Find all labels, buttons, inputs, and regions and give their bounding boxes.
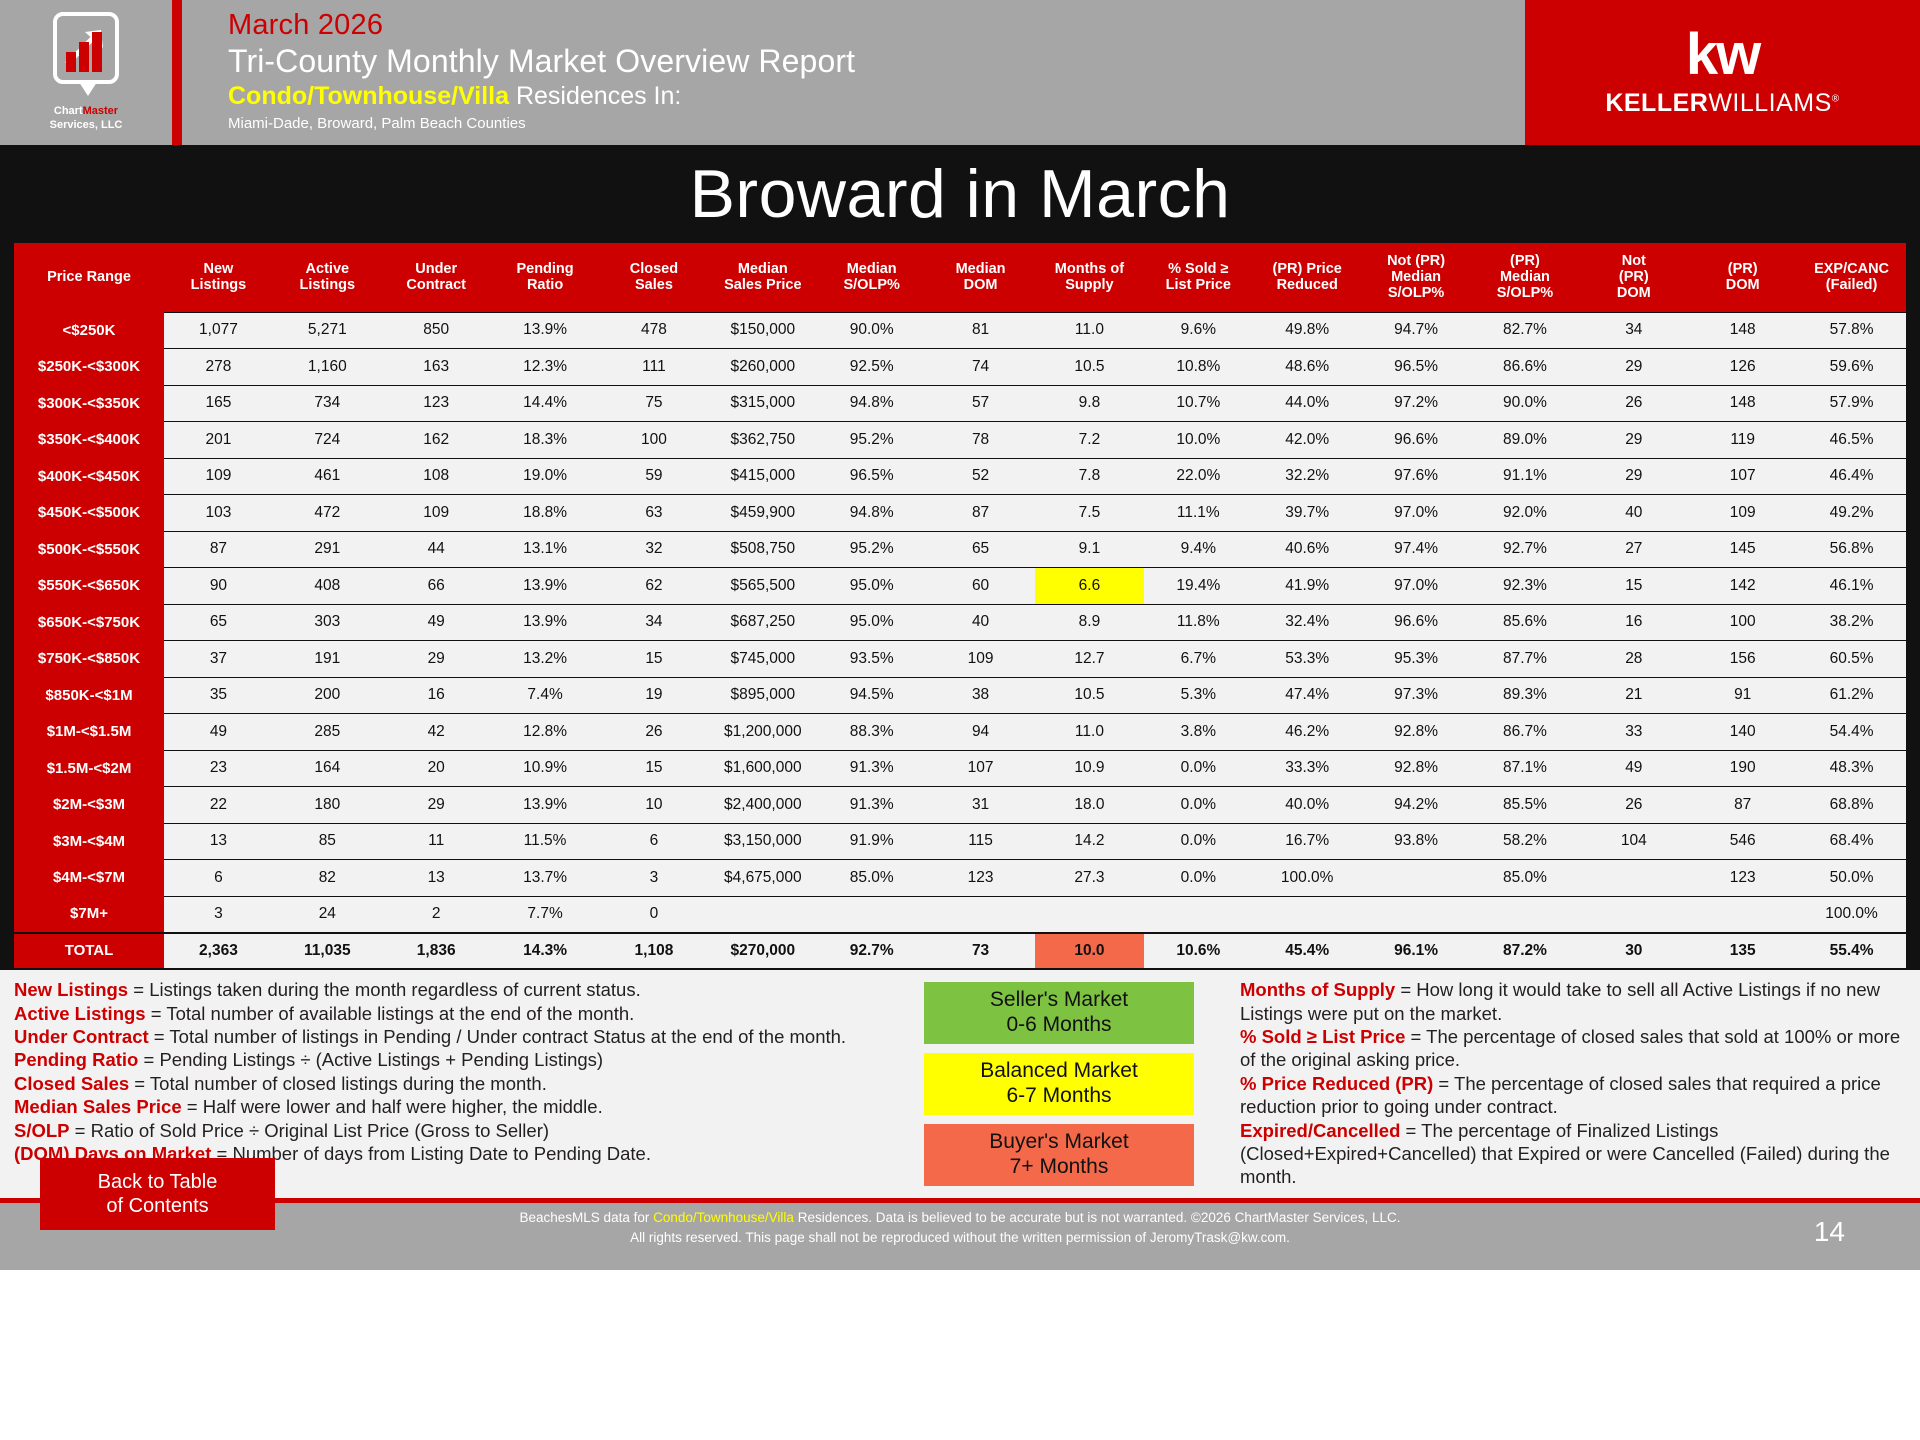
counties-label: Miami-Dade, Broward, Palm Beach Counties xyxy=(228,114,1525,134)
market-type-range: 7+ Months xyxy=(1010,1155,1109,1180)
cell-pct-sold-list: 6.7% xyxy=(1144,641,1253,678)
cell-not-pr-median-solp: 94.2% xyxy=(1362,787,1471,824)
cell-months-supply: 6.6 xyxy=(1035,568,1144,605)
cell-active-listings: 180 xyxy=(273,787,382,824)
legend-term: Expired/Cancelled xyxy=(1240,1120,1400,1141)
table-row: <$250K1,0775,27185013.9%478$150,00090.0%… xyxy=(14,312,1906,349)
cell-new-listings: 35 xyxy=(164,677,273,714)
cell-under-contract: 20 xyxy=(382,750,491,787)
cell-under-contract: 42 xyxy=(382,714,491,751)
cell-exp-canc: 49.2% xyxy=(1797,495,1906,532)
cell-price-range: $450K-<$500K xyxy=(14,495,164,532)
cell-pending-ratio: 18.8% xyxy=(491,495,600,532)
cell-median-solp: 94.8% xyxy=(817,385,926,422)
cell-under-contract: 2 xyxy=(382,896,491,933)
cell-median-solp: 92.7% xyxy=(817,933,926,970)
cell-months-supply: 9.1 xyxy=(1035,531,1144,568)
cell-median-sales-price: $1,200,000 xyxy=(708,714,817,751)
cell-active-listings: 11,035 xyxy=(273,933,382,970)
legend-item-left-2: Under Contract = Total number of listing… xyxy=(14,1025,884,1048)
cell-median-solp: 95.2% xyxy=(817,531,926,568)
cell-under-contract: 16 xyxy=(382,677,491,714)
cell-active-listings: 24 xyxy=(273,896,382,933)
cell-pending-ratio: 12.8% xyxy=(491,714,600,751)
cell-new-listings: 65 xyxy=(164,604,273,641)
cell-median-dom: 123 xyxy=(926,860,1035,897)
cell-pr-median-solp: 87.7% xyxy=(1471,641,1580,678)
cell-pending-ratio: 10.9% xyxy=(491,750,600,787)
table-row: $350K-<$400K20172416218.3%100$362,75095.… xyxy=(14,422,1906,459)
cell-pr-median-solp: 89.3% xyxy=(1471,677,1580,714)
cell-not-pr-dom xyxy=(1579,896,1688,933)
cell-not-pr-dom: 104 xyxy=(1579,823,1688,860)
column-header-not-pr-median-s-olp: Not (PR)MedianS/OLP% xyxy=(1362,243,1471,312)
table-row: $300K-<$350K16573412314.4%75$315,00094.8… xyxy=(14,385,1906,422)
legend-definitions-right: Months of Supply = How long it would tak… xyxy=(1234,978,1906,1198)
cell-pending-ratio: 13.9% xyxy=(491,604,600,641)
cell-price-range: <$250K xyxy=(14,312,164,349)
cell-closed-sales: 10 xyxy=(600,787,709,824)
column-header-median-s-olp: MedianS/OLP% xyxy=(817,243,926,312)
cell-median-sales-price: $362,750 xyxy=(708,422,817,459)
cell-median-dom: 115 xyxy=(926,823,1035,860)
cell-pr-median-solp: 90.0% xyxy=(1471,385,1580,422)
cell-price-range: $500K-<$550K xyxy=(14,531,164,568)
cell-months-supply: 8.9 xyxy=(1035,604,1144,641)
cell-active-listings: 5,271 xyxy=(273,312,382,349)
cell-median-solp: 94.8% xyxy=(817,495,926,532)
cell-pct-sold-list: 10.0% xyxy=(1144,422,1253,459)
cell-median-dom xyxy=(926,896,1035,933)
cell-pct-sold-list: 19.4% xyxy=(1144,568,1253,605)
cell-median-sales-price: $745,000 xyxy=(708,641,817,678)
legend-term: Active Listings xyxy=(14,1003,146,1024)
column-header-pending-ratio: PendingRatio xyxy=(491,243,600,312)
cell-pr-median-solp: 87.1% xyxy=(1471,750,1580,787)
cell-price-range: $7M+ xyxy=(14,896,164,933)
cell-not-pr-median-solp: 92.8% xyxy=(1362,714,1471,751)
cell-under-contract: 11 xyxy=(382,823,491,860)
back-button-line1: Back to Table xyxy=(98,1170,218,1194)
cell-months-supply: 18.0 xyxy=(1035,787,1144,824)
cell-median-solp xyxy=(817,896,926,933)
cell-pr-dom: 126 xyxy=(1688,349,1797,386)
cell-months-supply: 10.9 xyxy=(1035,750,1144,787)
cell-closed-sales: 75 xyxy=(600,385,709,422)
cell-price-range: $300K-<$350K xyxy=(14,385,164,422)
cell-pr-price-reduced: 42.0% xyxy=(1253,422,1362,459)
market-table-container: Price RangeNewListingsActiveListingsUnde… xyxy=(0,243,1920,970)
cell-pending-ratio: 19.0% xyxy=(491,458,600,495)
legend-term: % Sold ≥ List Price xyxy=(1240,1026,1405,1047)
table-header-row: Price RangeNewListingsActiveListingsUnde… xyxy=(14,243,1906,312)
legend-term: % Price Reduced (PR) xyxy=(1240,1073,1433,1094)
bar-chart-icon xyxy=(66,32,102,72)
cell-price-range: $650K-<$750K xyxy=(14,604,164,641)
cell-under-contract: 49 xyxy=(382,604,491,641)
legend-term: New Listings xyxy=(14,979,128,1000)
cell-median-solp: 94.5% xyxy=(817,677,926,714)
cell-closed-sales: 6 xyxy=(600,823,709,860)
cell-under-contract: 850 xyxy=(382,312,491,349)
cell-new-listings: 23 xyxy=(164,750,273,787)
cell-new-listings: 201 xyxy=(164,422,273,459)
cell-months-supply: 10.0 xyxy=(1035,933,1144,970)
cell-pr-dom: 140 xyxy=(1688,714,1797,751)
cell-pr-price-reduced: 32.4% xyxy=(1253,604,1362,641)
cell-not-pr-median-solp: 96.6% xyxy=(1362,422,1471,459)
cell-new-listings: 3 xyxy=(164,896,273,933)
cell-pct-sold-list: 10.6% xyxy=(1144,933,1253,970)
page-number: 14 xyxy=(1814,1216,1845,1248)
cell-median-solp: 88.3% xyxy=(817,714,926,751)
cell-median-dom: 73 xyxy=(926,933,1035,970)
cell-pr-price-reduced xyxy=(1253,896,1362,933)
cell-months-supply xyxy=(1035,896,1144,933)
cell-active-listings: 461 xyxy=(273,458,382,495)
cell-exp-canc: 68.4% xyxy=(1797,823,1906,860)
cell-not-pr-median-solp: 94.7% xyxy=(1362,312,1471,349)
cell-median-sales-price: $2,400,000 xyxy=(708,787,817,824)
cell-months-supply: 7.8 xyxy=(1035,458,1144,495)
cell-pr-median-solp: 85.0% xyxy=(1471,860,1580,897)
cell-not-pr-median-solp: 97.3% xyxy=(1362,677,1471,714)
cell-not-pr-median-solp: 92.8% xyxy=(1362,750,1471,787)
cell-pr-dom: 91 xyxy=(1688,677,1797,714)
cell-price-range: $4M-<$7M xyxy=(14,860,164,897)
cell-months-supply: 14.2 xyxy=(1035,823,1144,860)
cell-pending-ratio: 11.5% xyxy=(491,823,600,860)
table-row: $1M-<$1.5M492854212.8%26$1,200,00088.3%9… xyxy=(14,714,1906,751)
cell-new-listings: 103 xyxy=(164,495,273,532)
cell-median-solp: 90.0% xyxy=(817,312,926,349)
cell-pr-median-solp: 92.3% xyxy=(1471,568,1580,605)
cell-median-solp: 95.0% xyxy=(817,568,926,605)
table-row: $500K-<$550K872914413.1%32$508,75095.2%6… xyxy=(14,531,1906,568)
cell-pr-dom: 123 xyxy=(1688,860,1797,897)
cell-pending-ratio: 13.9% xyxy=(491,312,600,349)
legend-item-left-4: Closed Sales = Total number of closed li… xyxy=(14,1072,884,1095)
cell-pr-dom: 109 xyxy=(1688,495,1797,532)
cell-closed-sales: 15 xyxy=(600,641,709,678)
cell-pending-ratio: 14.4% xyxy=(491,385,600,422)
cell-new-listings: 6 xyxy=(164,860,273,897)
cell-pr-dom: 546 xyxy=(1688,823,1797,860)
market-type-title: Buyer's Market xyxy=(989,1130,1128,1155)
cell-months-supply: 7.2 xyxy=(1035,422,1144,459)
market-type-title: Seller's Market xyxy=(990,988,1128,1013)
cell-pr-median-solp: 92.7% xyxy=(1471,531,1580,568)
table-row: $750K-<$850K371912913.2%15$745,00093.5%1… xyxy=(14,641,1906,678)
residences-in-label: Residences In: xyxy=(509,82,681,110)
cell-new-listings: 37 xyxy=(164,641,273,678)
cell-pct-sold-list: 10.8% xyxy=(1144,349,1253,386)
cell-pct-sold-list: 0.0% xyxy=(1144,787,1253,824)
keller-williams-logo: kw KELLERWILLIAMS® xyxy=(1525,0,1920,145)
cell-not-pr-dom: 33 xyxy=(1579,714,1688,751)
cell-median-dom: 31 xyxy=(926,787,1035,824)
cell-pr-median-solp: 86.6% xyxy=(1471,349,1580,386)
cell-new-listings: 22 xyxy=(164,787,273,824)
cell-median-sales-price: $315,000 xyxy=(708,385,817,422)
market-type-legend: Seller's Market0-6 MonthsBalanced Market… xyxy=(884,978,1234,1198)
cell-median-dom: 94 xyxy=(926,714,1035,751)
cell-under-contract: 1,836 xyxy=(382,933,491,970)
cell-not-pr-dom: 29 xyxy=(1579,422,1688,459)
cell-pr-dom: 190 xyxy=(1688,750,1797,787)
page-header: ChartMaster Services, LLC March 2026 Tri… xyxy=(0,0,1920,145)
cell-closed-sales: 0 xyxy=(600,896,709,933)
cell-new-listings: 2,363 xyxy=(164,933,273,970)
legend-definition: = Listings taken during the month regard… xyxy=(128,979,641,1000)
legend-term: Median Sales Price xyxy=(14,1096,182,1117)
cell-months-supply: 27.3 xyxy=(1035,860,1144,897)
market-type-box-seller-s-market: Seller's Market0-6 Months xyxy=(924,982,1194,1044)
report-month: March 2026 xyxy=(228,8,1525,42)
market-type-range: 0-6 Months xyxy=(1006,1013,1111,1038)
cell-under-contract: 29 xyxy=(382,787,491,824)
copy-prefix: BeachesMLS data for xyxy=(520,1210,654,1225)
cell-not-pr-median-solp: 96.1% xyxy=(1362,933,1471,970)
cell-pr-dom: 87 xyxy=(1688,787,1797,824)
cell-not-pr-median-solp: 96.6% xyxy=(1362,604,1471,641)
copy-suffix: Residences. Data is believed to be accur… xyxy=(794,1210,1401,1225)
copy-property-type: Condo/Townhouse/Villa xyxy=(653,1210,794,1225)
cell-not-pr-median-solp xyxy=(1362,896,1471,933)
cell-median-dom: 78 xyxy=(926,422,1035,459)
market-type-title: Balanced Market xyxy=(980,1059,1138,1084)
cell-median-solp: 91.3% xyxy=(817,750,926,787)
cell-pr-price-reduced: 16.7% xyxy=(1253,823,1362,860)
column-header-price-range: Price Range xyxy=(14,243,164,312)
cell-under-contract: 123 xyxy=(382,385,491,422)
cell-closed-sales: 32 xyxy=(600,531,709,568)
column-header-exp-canc-failed: EXP/CANC(Failed) xyxy=(1797,243,1906,312)
cell-not-pr-dom: 28 xyxy=(1579,641,1688,678)
legend-item-left-1: Active Listings = Total number of availa… xyxy=(14,1002,884,1025)
header-title-block: March 2026 Tri-County Monthly Market Ove… xyxy=(182,0,1525,145)
cell-pr-dom: 135 xyxy=(1688,933,1797,970)
cell-pending-ratio: 13.9% xyxy=(491,787,600,824)
cell-pct-sold-list: 22.0% xyxy=(1144,458,1253,495)
cell-price-range: $2M-<$3M xyxy=(14,787,164,824)
cell-not-pr-dom: 16 xyxy=(1579,604,1688,641)
registered-trademark-icon: ® xyxy=(1832,93,1840,104)
cell-under-contract: 163 xyxy=(382,349,491,386)
column-header-not-pr-dom: Not(PR)DOM xyxy=(1579,243,1688,312)
cell-not-pr-dom: 29 xyxy=(1579,458,1688,495)
legend-section: New Listings = Listings taken during the… xyxy=(0,970,1920,1198)
cell-active-listings: 1,160 xyxy=(273,349,382,386)
cell-not-pr-dom: 40 xyxy=(1579,495,1688,532)
cell-pr-dom: 148 xyxy=(1688,312,1797,349)
cell-exp-canc: 61.2% xyxy=(1797,677,1906,714)
column-header-under-contract: UnderContract xyxy=(382,243,491,312)
column-header-sold-list-price: % Sold ≥List Price xyxy=(1144,243,1253,312)
cell-pending-ratio: 13.7% xyxy=(491,860,600,897)
cell-median-solp: 96.5% xyxy=(817,458,926,495)
cell-pr-price-reduced: 46.2% xyxy=(1253,714,1362,751)
copyright-text: BeachesMLS data for Condo/Townhouse/Vill… xyxy=(0,1208,1920,1247)
cell-months-supply: 11.0 xyxy=(1035,714,1144,751)
cell-pending-ratio: 7.4% xyxy=(491,677,600,714)
chartmaster-logo: ChartMaster Services, LLC xyxy=(0,0,172,145)
cell-not-pr-dom: 27 xyxy=(1579,531,1688,568)
cell-not-pr-median-solp: 97.0% xyxy=(1362,568,1471,605)
cell-active-listings: 724 xyxy=(273,422,382,459)
cell-not-pr-median-solp xyxy=(1362,860,1471,897)
legend-term: Months of Supply xyxy=(1240,979,1395,1000)
cell-months-supply: 7.5 xyxy=(1035,495,1144,532)
cell-pr-dom: 145 xyxy=(1688,531,1797,568)
cell-not-pr-dom: 26 xyxy=(1579,787,1688,824)
cell-pct-sold-list: 5.3% xyxy=(1144,677,1253,714)
cell-pending-ratio: 13.9% xyxy=(491,568,600,605)
cell-pr-price-reduced: 33.3% xyxy=(1253,750,1362,787)
cell-median-sales-price: $3,150,000 xyxy=(708,823,817,860)
report-title: Tri-County Monthly Market Overview Repor… xyxy=(228,42,1525,80)
cell-median-sales-price: $150,000 xyxy=(708,312,817,349)
cell-median-dom: 65 xyxy=(926,531,1035,568)
table-row: $2M-<$3M221802913.9%10$2,400,00091.3%311… xyxy=(14,787,1906,824)
cell-under-contract: 109 xyxy=(382,495,491,532)
cell-exp-canc: 56.8% xyxy=(1797,531,1906,568)
legend-item-right-3: Expired/Cancelled = The percentage of Fi… xyxy=(1240,1119,1906,1189)
column-header-pr-median-s-olp: (PR)MedianS/OLP% xyxy=(1471,243,1580,312)
cell-closed-sales: 19 xyxy=(600,677,709,714)
cell-closed-sales: 62 xyxy=(600,568,709,605)
column-header-median-sales-price: MedianSales Price xyxy=(708,243,817,312)
column-header-median-dom: MedianDOM xyxy=(926,243,1035,312)
cell-not-pr-dom: 21 xyxy=(1579,677,1688,714)
cell-price-range: $350K-<$400K xyxy=(14,422,164,459)
cell-pr-price-reduced: 39.7% xyxy=(1253,495,1362,532)
logo-wordmark: ChartMaster Services, LLC xyxy=(41,105,131,133)
cell-exp-canc: 38.2% xyxy=(1797,604,1906,641)
cell-median-dom: 57 xyxy=(926,385,1035,422)
chart-logo-icon xyxy=(53,12,119,84)
cell-exp-canc: 55.4% xyxy=(1797,933,1906,970)
cell-median-solp: 85.0% xyxy=(817,860,926,897)
cell-not-pr-median-solp: 95.3% xyxy=(1362,641,1471,678)
cell-pr-dom: 107 xyxy=(1688,458,1797,495)
cell-pr-median-solp: 87.2% xyxy=(1471,933,1580,970)
cell-exp-canc: 54.4% xyxy=(1797,714,1906,751)
cell-price-range: TOTAL xyxy=(14,933,164,970)
legend-item-right-1: % Sold ≥ List Price = The percentage of … xyxy=(1240,1025,1906,1072)
legend-definition: = Total number of available listings at … xyxy=(146,1003,635,1024)
cell-pct-sold-list: 9.6% xyxy=(1144,312,1253,349)
back-to-table-of-contents-button[interactable]: Back to Table of Contents xyxy=(40,1158,275,1230)
cell-new-listings: 165 xyxy=(164,385,273,422)
cell-pct-sold-list: 11.1% xyxy=(1144,495,1253,532)
cell-median-dom: 107 xyxy=(926,750,1035,787)
cell-new-listings: 87 xyxy=(164,531,273,568)
column-header-pr-dom: (PR)DOM xyxy=(1688,243,1797,312)
cell-under-contract: 162 xyxy=(382,422,491,459)
cell-active-listings: 164 xyxy=(273,750,382,787)
cell-active-listings: 472 xyxy=(273,495,382,532)
cell-median-dom: 60 xyxy=(926,568,1035,605)
copy-line2: All rights reserved. This page shall not… xyxy=(0,1228,1920,1248)
cell-median-sales-price: $508,750 xyxy=(708,531,817,568)
cell-pct-sold-list: 9.4% xyxy=(1144,531,1253,568)
page-footer: Back to Table of Contents BeachesMLS dat… xyxy=(0,1198,1920,1270)
cell-median-sales-price: $459,900 xyxy=(708,495,817,532)
cell-new-listings: 109 xyxy=(164,458,273,495)
cell-pr-median-solp xyxy=(1471,896,1580,933)
cell-pct-sold-list: 11.8% xyxy=(1144,604,1253,641)
cell-price-range: $750K-<$850K xyxy=(14,641,164,678)
kw-wordmark: KELLERWILLIAMS® xyxy=(1605,89,1839,118)
table-row: $4M-<$7M6821313.7%3$4,675,00085.0%12327.… xyxy=(14,860,1906,897)
cell-active-listings: 303 xyxy=(273,604,382,641)
cell-not-pr-median-solp: 96.5% xyxy=(1362,349,1471,386)
cell-not-pr-median-solp: 93.8% xyxy=(1362,823,1471,860)
cell-exp-canc: 60.5% xyxy=(1797,641,1906,678)
kw-keller-text: KELLER xyxy=(1605,89,1708,117)
cell-closed-sales: 100 xyxy=(600,422,709,459)
property-type-label: Condo/Townhouse/Villa xyxy=(228,82,509,110)
legend-item-left-5: Median Sales Price = Half were lower and… xyxy=(14,1095,884,1118)
cell-pr-price-reduced: 32.2% xyxy=(1253,458,1362,495)
legend-definition: = Half were lower and half were higher, … xyxy=(182,1096,603,1117)
cell-price-range: $250K-<$300K xyxy=(14,349,164,386)
cell-not-pr-dom: 30 xyxy=(1579,933,1688,970)
cell-closed-sales: 3 xyxy=(600,860,709,897)
cell-price-range: $850K-<$1M xyxy=(14,677,164,714)
column-header-closed-sales: ClosedSales xyxy=(600,243,709,312)
cell-median-dom: 81 xyxy=(926,312,1035,349)
report-subtitle: Condo/Townhouse/Villa Residences In: xyxy=(228,81,1525,112)
cell-median-solp: 91.3% xyxy=(817,787,926,824)
table-row: $650K-<$750K653034913.9%34$687,25095.0%4… xyxy=(14,604,1906,641)
legend-definition: = Ratio of Sold Price ÷ Original List Pr… xyxy=(70,1120,550,1141)
legend-definition: = Total number of closed listings during… xyxy=(129,1073,547,1094)
banner-title: Broward in March xyxy=(690,155,1231,233)
cell-under-contract: 13 xyxy=(382,860,491,897)
cell-pr-price-reduced: 40.6% xyxy=(1253,531,1362,568)
cell-not-pr-dom xyxy=(1579,860,1688,897)
cell-median-dom: 38 xyxy=(926,677,1035,714)
cell-months-supply: 9.8 xyxy=(1035,385,1144,422)
market-type-range: 6-7 Months xyxy=(1006,1084,1111,1109)
cell-median-sales-price: $1,600,000 xyxy=(708,750,817,787)
legend-term: Closed Sales xyxy=(14,1073,129,1094)
cell-exp-canc: 46.4% xyxy=(1797,458,1906,495)
legend-item-right-0: Months of Supply = How long it would tak… xyxy=(1240,978,1906,1025)
cell-median-dom: 109 xyxy=(926,641,1035,678)
cell-exp-canc: 100.0% xyxy=(1797,896,1906,933)
cell-median-dom: 87 xyxy=(926,495,1035,532)
cell-price-range: $1.5M-<$2M xyxy=(14,750,164,787)
cell-not-pr-dom: 15 xyxy=(1579,568,1688,605)
cell-median-solp: 95.2% xyxy=(817,422,926,459)
cell-pr-price-reduced: 49.8% xyxy=(1253,312,1362,349)
footer-red-line xyxy=(0,1198,1920,1203)
cell-under-contract: 108 xyxy=(382,458,491,495)
cell-pr-median-solp: 85.5% xyxy=(1471,787,1580,824)
cell-median-sales-price: $415,000 xyxy=(708,458,817,495)
column-header-months-of-supply: Months ofSupply xyxy=(1035,243,1144,312)
column-header-active-listings: ActiveListings xyxy=(273,243,382,312)
cell-pr-median-solp: 89.0% xyxy=(1471,422,1580,459)
cell-median-solp: 91.9% xyxy=(817,823,926,860)
cell-median-solp: 93.5% xyxy=(817,641,926,678)
cell-price-range: $3M-<$4M xyxy=(14,823,164,860)
cell-pr-price-reduced: 41.9% xyxy=(1253,568,1362,605)
county-banner: Broward in March xyxy=(0,145,1920,243)
